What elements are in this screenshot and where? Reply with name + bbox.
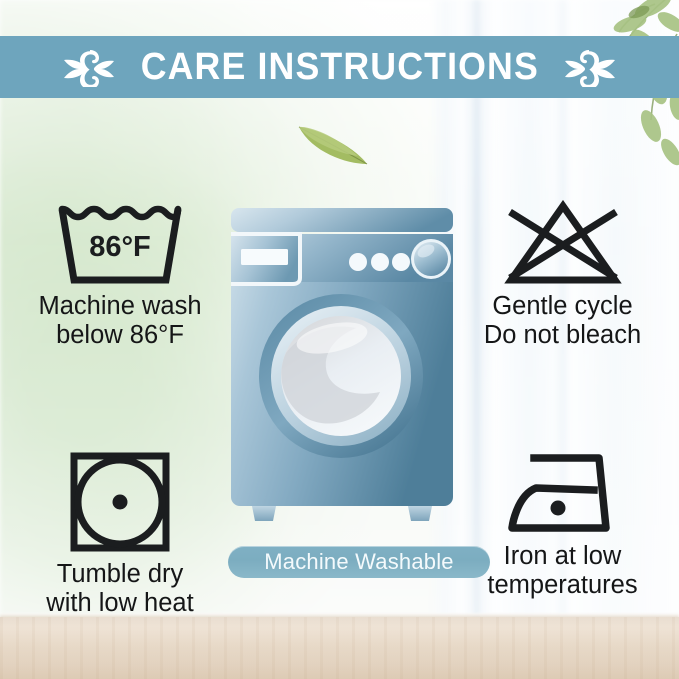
fleur-de-lis-icon [561, 47, 617, 87]
triangle-crossed-icon [504, 200, 622, 286]
machine-foot [252, 506, 276, 521]
tumble-dry-icon [68, 450, 172, 554]
care-icon-caption: Iron at low temperatures [487, 542, 637, 599]
caption-line-2: below 86°F [39, 321, 202, 350]
fleur-de-lis-icon [62, 47, 118, 87]
caption-line-1: Gentle cycle [484, 292, 641, 321]
dry-heat-dot [113, 495, 128, 510]
control-button[interactable] [349, 253, 367, 271]
iron-heat-dot [550, 501, 565, 516]
floating-leaf-icon [296, 120, 370, 168]
caption-line-1: Machine wash [39, 292, 202, 321]
wash-temperature-value: 86°F [89, 231, 151, 263]
care-icon-iron: Iron at low temperatures [455, 450, 670, 599]
machine-foot [408, 506, 432, 521]
caption-line-1: Iron at low [487, 542, 637, 571]
wooden-table-surface [0, 617, 679, 679]
care-instructions-infographic: CARE INSTRUCTIONS 86°F Machine wash belo… [0, 0, 679, 679]
care-icon-caption: Gentle cycle Do not bleach [484, 292, 641, 349]
caption-line-2: temperatures [487, 571, 637, 600]
care-icon-do-not-bleach: Gentle cycle Do not bleach [455, 200, 670, 349]
caption-line-2: with low heat [46, 589, 193, 618]
badge-label: Machine Washable [264, 551, 453, 573]
control-button[interactable] [371, 253, 389, 271]
care-icon-caption: Machine wash below 86°F [39, 292, 202, 349]
wash-tub-icon: 86°F [57, 200, 183, 286]
care-icon-caption: Tumble dry with low heat [46, 560, 193, 617]
care-icon-machine-wash: 86°F Machine wash below 86°F [10, 200, 230, 349]
machine-display [241, 249, 288, 265]
page-title: CARE INSTRUCTIONS [140, 48, 538, 86]
machine-top-lid [231, 208, 453, 232]
caption-line-1: Tumble dry [46, 560, 193, 589]
control-button[interactable] [392, 253, 410, 271]
header-banner: CARE INSTRUCTIONS [0, 36, 679, 98]
machine-washable-badge: Machine Washable [228, 546, 490, 578]
caption-line-2: Do not bleach [484, 321, 641, 350]
washing-machine-illustration [228, 206, 456, 531]
care-icon-tumble-dry: Tumble dry with low heat [10, 450, 230, 617]
iron-icon [502, 450, 624, 536]
